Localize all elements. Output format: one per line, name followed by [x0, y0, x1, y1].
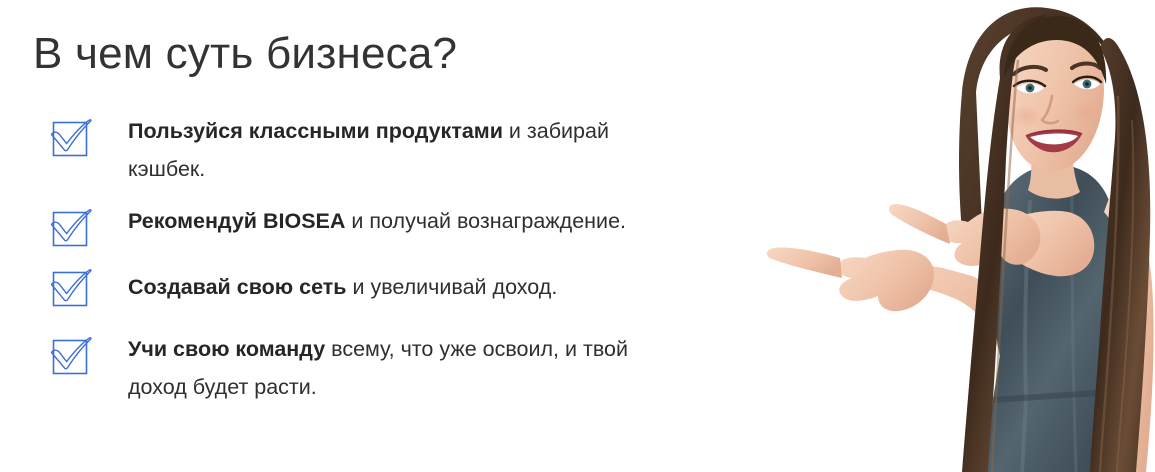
list-item: Создавай свою сеть и увеличивай доход. — [0, 266, 740, 312]
list-item-text: Создавай свою сеть и увеличивай доход. — [128, 266, 684, 306]
smiling-woman-pointing-left-photo — [700, 0, 1155, 472]
list-item-text: Рекомендуй BIOSEA и получай вознагражден… — [128, 202, 684, 240]
list-item-lead: Пользуйся классными продуктами — [128, 119, 503, 143]
list-item-text: Учи свою команду всему, что уже освоил, … — [128, 330, 684, 406]
list-item: Пользуйся классными продуктами и забирай… — [0, 112, 740, 188]
list-item-rest: и увеличивай доход. — [347, 275, 558, 299]
list-item: Учи свою команду всему, что уже освоил, … — [0, 330, 740, 406]
checkbox-check-icon — [50, 116, 96, 162]
checkbox-check-icon — [50, 334, 96, 380]
checkbox-check-icon — [50, 266, 96, 312]
list-item-lead: Создавай свою сеть — [128, 275, 347, 299]
checkbox-check-icon — [50, 206, 96, 252]
list-item-text: Пользуйся классными продуктами и забирай… — [128, 112, 684, 188]
page-title: В чем суть бизнеса? — [33, 30, 457, 78]
benefit-list: Пользуйся классными продуктами и забирай… — [0, 112, 740, 420]
list-item-lead: Рекомендуй BIOSEA — [128, 209, 345, 233]
promo-banner: В чем суть бизнеса? Пользуйся классными … — [0, 0, 1155, 472]
content-column: В чем суть бизнеса? Пользуйся классными … — [0, 0, 740, 472]
list-item: Рекомендуй BIOSEA и получай вознагражден… — [0, 202, 740, 252]
list-item-rest: и получай вознаграждение. — [345, 209, 626, 233]
list-item-lead: Учи свою команду — [128, 337, 325, 361]
